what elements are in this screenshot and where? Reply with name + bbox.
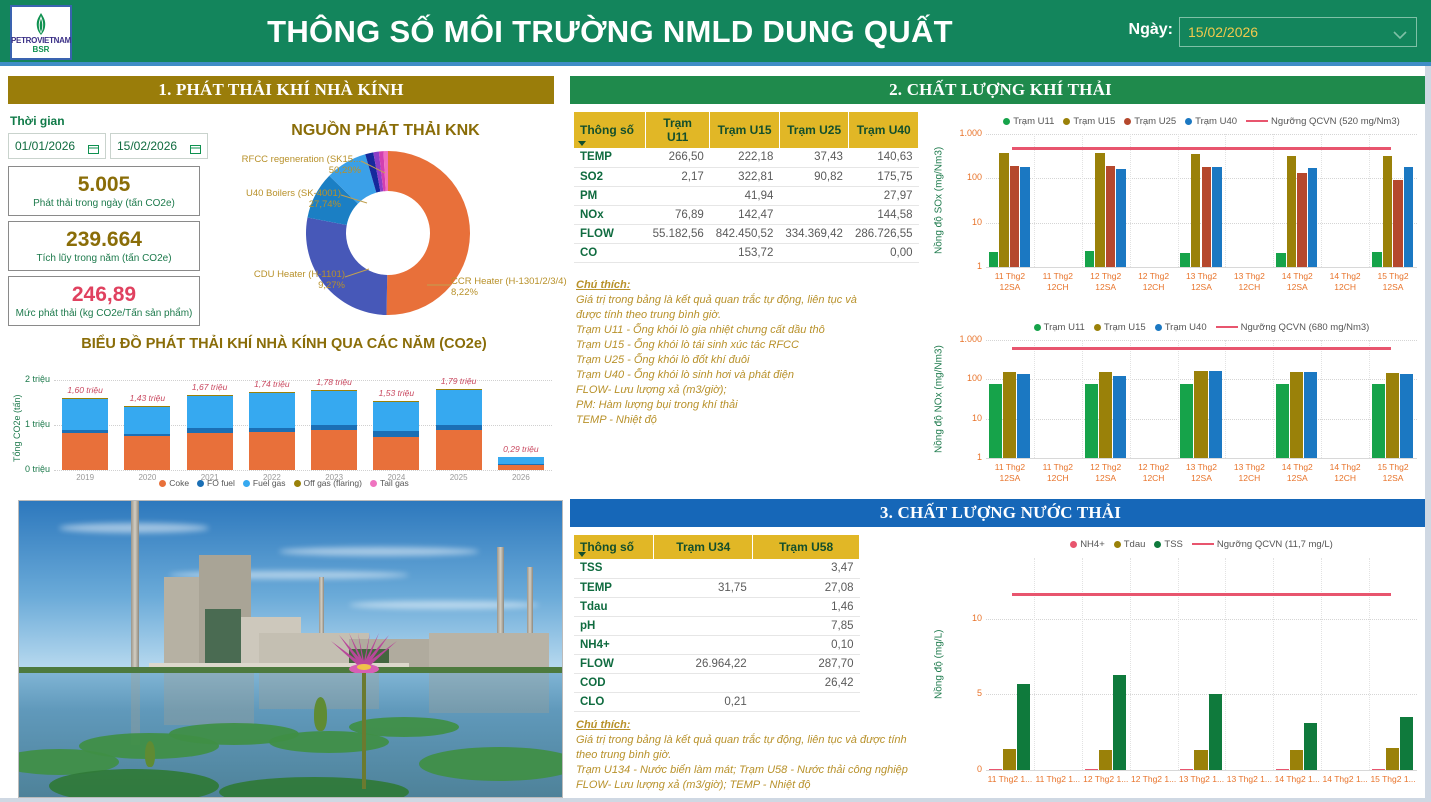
cell-value: 55.182,56 — [646, 224, 710, 243]
cell-value: 76,89 — [646, 205, 710, 224]
cell-value: 26,42 — [753, 673, 860, 692]
bar[interactable] — [1287, 156, 1297, 267]
cell-value: 41,94 — [710, 186, 780, 205]
y-axis-tick: 1.000 — [946, 128, 982, 138]
cell-value: 142,47 — [710, 205, 780, 224]
section-2-banner: 2. CHẤT LƯỢNG KHÍ THẢI — [570, 76, 1431, 104]
legend-item[interactable]: Trạm U15 — [1094, 322, 1146, 333]
bar[interactable] — [1113, 675, 1126, 770]
bar-segment[interactable] — [62, 430, 108, 433]
kpi-card-annual-cumulative: 239.664 Tích lũy trong năm (tấn CO2e) — [8, 221, 200, 271]
petrovietnam-bsr-logo: PETROVIETNAM BSR — [10, 5, 72, 60]
bar-segment[interactable] — [187, 433, 233, 470]
legend-item[interactable]: Trạm U11 — [1003, 116, 1054, 127]
bar-segment[interactable] — [124, 434, 170, 437]
cell-parameter: SO2 — [574, 167, 646, 186]
legend-swatch — [294, 480, 301, 487]
bar-segment[interactable] — [124, 406, 170, 433]
gridline — [986, 340, 1417, 341]
bar[interactable] — [1095, 153, 1105, 267]
legend-item[interactable]: Trạm U40 — [1185, 116, 1237, 127]
legend-swatch — [1063, 118, 1070, 125]
threshold-line — [1012, 147, 1390, 150]
bar-group[interactable] — [436, 380, 482, 470]
legend-label: Off gas (flaring) — [304, 478, 362, 488]
cell-parameter: pH — [574, 616, 654, 635]
vertical-gridline — [1225, 558, 1226, 770]
bar[interactable] — [1099, 372, 1112, 458]
cell-value — [654, 673, 753, 692]
page-title: THÔNG SỐ MÔI TRƯỜNG NMLD DUNG QUẤT — [90, 8, 1130, 56]
bar[interactable] — [1099, 750, 1112, 770]
legend-item[interactable]: NH4+ — [1070, 539, 1105, 550]
bar-segment[interactable] — [249, 392, 295, 393]
vertical-gridline — [1273, 134, 1274, 267]
cell-parameter: NOx — [574, 205, 646, 224]
bar[interactable] — [1202, 167, 1212, 268]
note-line: FLOW- Lưu lượng xả (m3/giờ); TEMP - Nhiệ… — [576, 778, 928, 793]
bar[interactable] — [1180, 384, 1193, 458]
bar-segment[interactable] — [187, 396, 233, 428]
legend-item[interactable]: Fuel gas — [243, 478, 286, 488]
donut-label-u40-boilers: CDU Heater (H-1101)9,27% — [213, 269, 345, 291]
y-axis-tick: 1.000 — [946, 334, 982, 344]
cell-value — [779, 186, 849, 205]
cell-value: 26.964,22 — [654, 654, 753, 673]
legend-item-threshold[interactable]: Ngưỡng QCVN (680 mg/Nm3) — [1216, 322, 1370, 333]
note-line: PM: Hàm lượng bụi trong khí thải — [576, 398, 926, 413]
table-row[interactable]: NOx76,89142,47144,58 — [574, 205, 919, 224]
sort-caret-icon[interactable] — [578, 552, 586, 557]
bar[interactable] — [1106, 166, 1116, 267]
donut-chart-title: NGUỒN PHÁT THẢI KNK — [213, 122, 558, 142]
bar[interactable] — [1400, 717, 1413, 770]
vertical-gridline — [1178, 558, 1179, 770]
bar[interactable] — [1308, 168, 1318, 267]
legend-label: Trạm U11 — [1013, 116, 1054, 127]
bar[interactable] — [989, 252, 999, 267]
bar[interactable] — [1010, 166, 1020, 267]
bar-segment[interactable] — [62, 399, 108, 430]
exhaust-gas-quality-table[interactable]: Thông số Trạm U11 Trạm U15 Trạm U25 Trạm… — [574, 112, 919, 263]
table-row[interactable]: TSS3,47 — [574, 559, 860, 578]
bar[interactable] — [1276, 253, 1286, 267]
vertical-gridline — [1321, 558, 1322, 770]
cell-value — [646, 186, 710, 205]
photo-lily-pad — [49, 769, 219, 798]
calendar-icon[interactable] — [88, 141, 99, 151]
bar[interactable] — [1297, 173, 1307, 267]
bar-segment[interactable] — [249, 393, 295, 428]
bar[interactable] — [1194, 750, 1207, 770]
cell-value: 0,00 — [849, 243, 919, 262]
legend-label: Trạm U11 — [1044, 322, 1085, 333]
section-3-banner: 3. CHẤT LƯỢNG NƯỚC THẢI — [570, 499, 1431, 527]
date-picker-dropdown[interactable]: 15/02/2026 — [1179, 17, 1417, 47]
kpi-value: 239.664 — [66, 228, 142, 252]
photo-lotus-bud — [314, 697, 327, 731]
donut-label-line: RFCC regeneration (SK15... — [213, 154, 361, 165]
donut-label-line: 9,27% — [213, 280, 345, 291]
calendar-icon[interactable] — [190, 141, 201, 151]
legend-swatch — [1154, 541, 1161, 548]
kpi-caption: Phát thải trong ngày (tấn CO2e) — [33, 198, 175, 209]
y-axis-tick: 10 — [946, 413, 982, 423]
time-filter-label: Thời gian — [10, 114, 65, 128]
note-heading: Chú thích: — [576, 278, 926, 293]
cell-parameter: CO — [574, 243, 646, 262]
legend-item[interactable]: Trạm U40 — [1155, 322, 1207, 333]
x-axis-tick-line: 15 Thg2 — [1363, 462, 1423, 473]
cell-value: 37,43 — [779, 148, 849, 167]
bar-group[interactable] — [249, 380, 295, 470]
photo-flare-stack — [131, 500, 139, 673]
y-axis-tick: 100 — [946, 172, 982, 182]
bar-segment[interactable] — [498, 465, 544, 470]
col-header-u34[interactable]: Trạm U34 — [654, 535, 753, 559]
bar[interactable] — [1191, 154, 1201, 267]
bar[interactable] — [1386, 748, 1399, 770]
bar[interactable] — [1404, 167, 1414, 267]
threshold-line — [1012, 347, 1390, 350]
y-axis-label: Nồng độ (mg/L) — [932, 558, 946, 770]
bar-total-label: 1,43 triệu — [114, 393, 180, 403]
cell-parameter: TSS — [574, 559, 654, 578]
bar[interactable] — [1085, 384, 1098, 458]
col-header-u25[interactable]: Trạm U25 — [779, 112, 849, 148]
bar[interactable] — [1020, 167, 1030, 267]
kpi-value: 246,89 — [72, 283, 136, 307]
bar-segment[interactable] — [373, 401, 419, 402]
note-line: TEMP - Nhiệt độ — [576, 413, 926, 428]
bar-group[interactable] — [498, 380, 544, 470]
bar-segment[interactable] — [62, 398, 108, 399]
bar-segment[interactable] — [187, 428, 233, 433]
note-line: Trạm U134 - Nước biển làm mát; Trạm U58 … — [576, 763, 928, 778]
bar[interactable] — [1180, 253, 1190, 267]
kpi-card-intensity: 246,89 Mức phát thải (kg CO2e/Tấn sản ph… — [8, 276, 200, 326]
col-header-u58[interactable]: Trạm U58 — [753, 535, 860, 559]
table-row[interactable]: COD26,42 — [574, 673, 860, 692]
gridline — [986, 134, 1417, 135]
note-line: Giá trị trong bảng là kết quả quan trắc … — [576, 293, 926, 308]
legend-item-threshold[interactable]: Ngưỡng QCVN (11,7 mg/L) — [1192, 539, 1333, 550]
bar-total-label: 1,78 triệu — [301, 377, 367, 387]
vertical-gridline — [1273, 558, 1274, 770]
cell-parameter: PM — [574, 186, 646, 205]
bar-segment[interactable] — [311, 425, 357, 431]
legend-item[interactable]: Coke — [159, 478, 189, 488]
bar-segment[interactable] — [311, 390, 357, 391]
cell-value: 140,63 — [849, 148, 919, 167]
bar[interactable] — [1372, 252, 1382, 267]
legend-item[interactable]: FO fuel — [197, 478, 235, 488]
legend-swatch — [1094, 324, 1101, 331]
cell-value — [654, 616, 753, 635]
bar[interactable] — [1212, 167, 1222, 267]
table-row[interactable]: NH4+0,10 — [574, 635, 860, 654]
vertical-gridline — [1130, 558, 1131, 770]
x-axis-tick-line: 12SA — [1363, 282, 1423, 293]
legend-swatch — [370, 480, 377, 487]
legend-item[interactable]: Trạm U25 — [1124, 116, 1176, 127]
donut-label-line: CCR Heater (H-1301/2/3/4) — [451, 276, 591, 287]
bar-segment[interactable] — [249, 432, 295, 470]
legend-item[interactable]: Tail gas — [370, 478, 409, 488]
y-axis-tick: 100 — [946, 373, 982, 383]
bar-segment[interactable] — [436, 430, 482, 470]
table-row[interactable]: Tdau1,46 — [574, 597, 860, 616]
table-row[interactable]: TEMP266,50222,1837,43140,63 — [574, 148, 919, 167]
vertical-gridline — [1369, 340, 1370, 458]
legend-item[interactable]: Tdau — [1114, 539, 1146, 550]
note-heading: Chú thích: — [576, 718, 928, 733]
y-axis-tick: 1 triệu — [12, 419, 50, 429]
x-axis-tick-line: 15 Thg2 1... — [1363, 774, 1423, 785]
nox-concentration-chart[interactable]: Trạm U11Trạm U15Trạm U40Ngưỡng QCVN (680… — [930, 318, 1431, 498]
bar[interactable] — [1290, 750, 1303, 770]
note-line: Trạm U40 - Ống khói lò sinh hơi và phát … — [576, 368, 926, 383]
legend-label: Fuel gas — [253, 478, 286, 488]
bar[interactable] — [989, 384, 1002, 458]
table-row[interactable]: SO22,17322,8190,82175,75 — [574, 167, 919, 186]
y-axis-tick: 0 triệu — [12, 464, 50, 474]
legend-item-threshold[interactable]: Ngưỡng QCVN (520 mg/Nm3) — [1246, 116, 1400, 127]
y-axis-label: Nồng độ NOx (mg/Nm3) — [932, 340, 946, 458]
cell-parameter: CLO — [574, 692, 654, 711]
bar-segment[interactable] — [311, 391, 357, 425]
bar[interactable] — [1304, 723, 1317, 770]
date-to-value: 15/02/2026 — [117, 139, 184, 153]
cell-value: 286.726,55 — [849, 224, 919, 243]
cell-value: 7,85 — [753, 616, 860, 635]
photo-cloud — [279, 547, 479, 556]
col-header-label: Thông số — [580, 540, 634, 554]
x-axis-line — [986, 267, 1417, 268]
legend-label: Coke — [169, 478, 189, 488]
cell-parameter: COD — [574, 673, 654, 692]
bar-segment[interactable] — [373, 431, 419, 436]
x-axis-tick-line: 15 Thg2 — [1363, 271, 1423, 282]
bar-segment[interactable] — [498, 457, 544, 464]
kpi-value: 5.005 — [78, 173, 131, 197]
col-header-u15[interactable]: Trạm U15 — [710, 112, 780, 148]
legend-item[interactable]: TSS — [1154, 539, 1182, 550]
bar[interactable] — [1304, 372, 1317, 458]
date-from-value: 01/01/2026 — [15, 139, 82, 153]
bar[interactable] — [1290, 372, 1303, 458]
donut-label-line: 27,74% — [213, 199, 341, 210]
bar[interactable] — [1194, 371, 1207, 458]
legend-item[interactable]: Off gas (flaring) — [294, 478, 362, 488]
photo-cloud — [349, 601, 539, 609]
cell-value: 0,21 — [654, 692, 753, 711]
gridline — [986, 694, 1417, 695]
bar-segment[interactable] — [62, 433, 108, 470]
cell-parameter: NH4+ — [574, 635, 654, 654]
bar[interactable] — [1209, 371, 1222, 458]
y-axis-tick: 2 triệu — [12, 374, 50, 384]
vertical-gridline — [1082, 134, 1083, 267]
photo-lotus-flower — [327, 633, 401, 673]
exhaust-gas-note: Chú thích:Giá trị trong bảng là kết quả … — [576, 278, 926, 428]
bar-segment[interactable] — [373, 437, 419, 470]
table-row[interactable]: PM41,9427,97 — [574, 186, 919, 205]
sort-caret-icon[interactable] — [578, 141, 586, 146]
legend-threshold-line — [1246, 120, 1268, 123]
note-line: Trạm U11 - Ống khói lò gia nhiệt chưng c… — [576, 323, 926, 338]
vertical-gridline — [1034, 340, 1035, 458]
threshold-line — [1012, 593, 1390, 596]
logo-wordmark-primary: PETROVIETNAM — [11, 36, 71, 45]
note-line: Trạm U25 - Ống khói lò đốt khí đuôi — [576, 353, 926, 368]
date-picker-label: Ngày: — [1129, 21, 1173, 39]
cell-value: 222,18 — [710, 148, 780, 167]
bar[interactable] — [1113, 376, 1126, 458]
bar[interactable] — [1116, 169, 1126, 267]
bar[interactable] — [1276, 384, 1289, 458]
x-axis-tick: 15 Thg2 1... — [1363, 774, 1423, 785]
bar-group[interactable] — [311, 380, 357, 470]
bar[interactable] — [1386, 373, 1399, 458]
bar-segment[interactable] — [249, 428, 295, 433]
legend-label: Trạm U15 — [1073, 116, 1115, 127]
legend-label: Ngưỡng QCVN (520 mg/Nm3) — [1271, 116, 1400, 127]
x-axis-tick-line: 12SA — [1363, 473, 1423, 484]
legend-label: Ngưỡng QCVN (11,7 mg/L) — [1217, 539, 1333, 550]
vertical-gridline — [1369, 134, 1370, 267]
cell-value — [646, 243, 710, 262]
cell-value: 27,08 — [753, 578, 860, 597]
bar-total-label: 1,74 triệu — [239, 379, 305, 389]
bar[interactable] — [1372, 384, 1385, 458]
vertical-gridline — [1082, 558, 1083, 770]
x-axis-tick: 15 Thg212SA — [1363, 271, 1423, 293]
vertical-gridline — [1321, 340, 1322, 458]
bar-group[interactable] — [187, 380, 233, 470]
cell-value: 27,97 — [849, 186, 919, 205]
kpi-caption: Tích lũy trong năm (tấn CO2e) — [36, 253, 171, 264]
bar[interactable] — [1085, 251, 1095, 267]
bar[interactable] — [1003, 372, 1016, 458]
table-row[interactable]: TEMP31,7527,08 — [574, 578, 860, 597]
ghg-sources-donut-chart[interactable]: RFCC regeneration (SK15...50,29% U40 Boi… — [213, 145, 563, 320]
legend-swatch — [1003, 118, 1010, 125]
legend-swatch — [1185, 118, 1192, 125]
cell-value: 175,75 — [849, 167, 919, 186]
legend-label: Trạm U25 — [1134, 116, 1176, 127]
table-row[interactable]: FLOW26.964,22287,70 — [574, 654, 860, 673]
col-header-u40[interactable]: Trạm U40 — [849, 112, 919, 148]
years-chart-legend[interactable]: CokeFO fuelFuel gasOff gas (flaring)Tail… — [8, 476, 560, 490]
bar-segment[interactable] — [436, 390, 482, 425]
bar-segment[interactable] — [187, 395, 233, 396]
legend-label: Trạm U15 — [1104, 322, 1146, 333]
kpi-caption: Mức phát thải (kg CO2e/Tấn sản phẩm) — [16, 308, 193, 319]
vertical-gridline — [1369, 558, 1370, 770]
col-header-u11[interactable]: Trạm U11 — [646, 112, 710, 148]
legend-swatch — [1070, 541, 1077, 548]
legend-label: Ngưỡng QCVN (680 mg/Nm3) — [1241, 322, 1370, 333]
bar-segment[interactable] — [436, 425, 482, 430]
bar-segment[interactable] — [124, 436, 170, 470]
cell-value: 3,47 — [753, 559, 860, 578]
legend-label: Tdau — [1124, 539, 1146, 550]
cell-value: 334.369,42 — [779, 224, 849, 243]
donut-slice[interactable] — [306, 217, 387, 315]
gridline — [54, 470, 552, 471]
legend-swatch — [1034, 324, 1041, 331]
bar[interactable] — [1209, 694, 1222, 770]
y-axis-tick: 10 — [946, 613, 982, 623]
cell-value — [654, 597, 753, 616]
bar-total-label: 0,29 triệu — [488, 444, 554, 454]
y-axis-tick: 5 — [946, 688, 982, 698]
bar[interactable] — [1017, 684, 1030, 770]
bar[interactable] — [1393, 180, 1403, 267]
bar-segment[interactable] — [373, 402, 419, 431]
note-line: Giá trị trong bảng là kết quả quan trắc … — [576, 733, 928, 748]
donut-label-line: CDU Heater (H-1101) — [213, 269, 345, 280]
bar[interactable] — [1017, 374, 1030, 458]
bar[interactable] — [1400, 374, 1413, 458]
cell-value — [654, 559, 753, 578]
col-header-parameter[interactable]: Thông số — [574, 112, 646, 148]
date-from-input[interactable]: 01/01/2026 — [8, 133, 106, 159]
table-row[interactable]: CO153,720,00 — [574, 243, 919, 262]
legend-item[interactable]: Trạm U15 — [1063, 116, 1115, 127]
date-to-input[interactable]: 15/02/2026 — [110, 133, 208, 159]
note-line: Trạm U15 - Ống khói lò tái sinh xúc tác … — [576, 338, 926, 353]
bar-total-label: 1,60 triệu — [52, 385, 118, 395]
table-row[interactable]: FLOW55.182,56842.450,52334.369,42286.726… — [574, 224, 919, 243]
chevron-down-icon[interactable] — [1392, 27, 1408, 37]
wastewater-concentration-chart[interactable]: NH4+TdauTSSNgưỡng QCVN (11,7 mg/L)Nồng đ… — [930, 534, 1431, 802]
legend-item[interactable]: Trạm U11 — [1034, 322, 1085, 333]
vertical-gridline — [1321, 134, 1322, 267]
sox-concentration-chart[interactable]: Trạm U11Trạm U15Trạm U25Trạm U40Ngưỡng Q… — [930, 112, 1431, 307]
cell-value: 153,72 — [710, 243, 780, 262]
photo-lotus-bud — [145, 741, 155, 767]
cell-value: 144,58 — [849, 205, 919, 224]
bar-segment[interactable] — [436, 389, 482, 390]
chart-legend[interactable]: NH4+TdauTSSNgưỡng QCVN (11,7 mg/L) — [986, 534, 1417, 554]
date-picker-value: 15/02/2026 — [1188, 24, 1392, 40]
wastewater-quality-table[interactable]: Thông số Trạm U34 Trạm U58 TSS3,47TEMP31… — [574, 535, 860, 712]
bar[interactable] — [999, 153, 1009, 267]
cell-value: 90,82 — [779, 167, 849, 186]
header-divider — [0, 62, 1431, 66]
bar[interactable] — [1383, 156, 1393, 267]
x-axis-line — [986, 458, 1417, 459]
chart-legend[interactable]: Trạm U11Trạm U15Trạm U25Trạm U40Ngưỡng Q… — [986, 112, 1417, 130]
donut-label-cdu-heater: U40 Boilers (SK-4001)27,74% — [213, 188, 341, 210]
ghg-by-year-chart[interactable]: Tổng CO2e (tấn) 2 triệu1 triệu0 triệu1,6… — [8, 358, 560, 488]
chart-legend[interactable]: Trạm U11Trạm U15Trạm U40Ngưỡng QCVN (680… — [986, 318, 1417, 336]
table-row[interactable]: pH7,85 — [574, 616, 860, 635]
wastewater-note: Chú thích:Giá trị trong bảng là kết quả … — [576, 718, 928, 793]
note-line: FLOW- Lưu lượng xả (m3/giờ); — [576, 383, 926, 398]
legend-label: FO fuel — [207, 478, 235, 488]
bar[interactable] — [1003, 749, 1016, 770]
col-header-parameter[interactable]: Thông số — [574, 535, 654, 559]
cell-value — [753, 692, 860, 711]
table-row[interactable]: CLO0,21 — [574, 692, 860, 711]
legend-label: Trạm U40 — [1195, 116, 1237, 127]
legend-label: TSS — [1164, 539, 1182, 550]
bar-segment[interactable] — [311, 430, 357, 470]
legend-threshold-line — [1192, 543, 1214, 546]
